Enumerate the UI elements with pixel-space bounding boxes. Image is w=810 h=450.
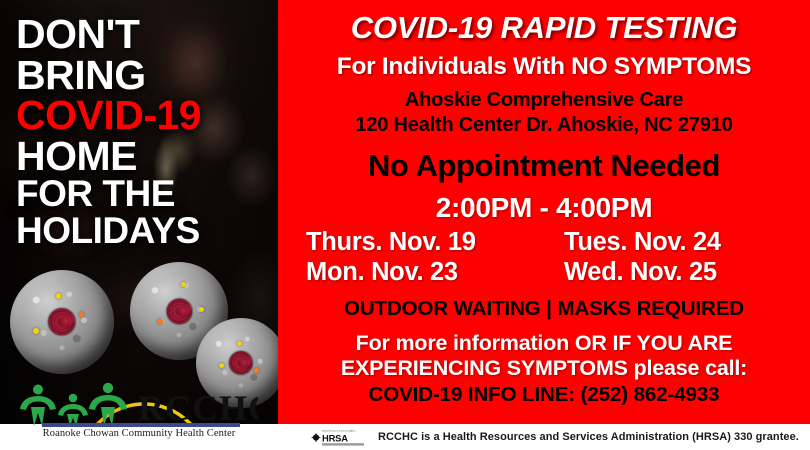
info-line-1: For more information OR IF YOU ARE bbox=[278, 331, 810, 356]
footer-bar: Health Resources & Services Admin. HRSA … bbox=[278, 424, 810, 450]
date-item: Wed. Nov. 25 bbox=[544, 258, 810, 288]
poster-title: COVID-19 RAPID TESTING bbox=[278, 10, 810, 46]
hrsa-wordmark: HRSA bbox=[322, 432, 348, 443]
three-people-icon bbox=[20, 383, 127, 426]
headline-block: DON'T BRING COVID-19 HOME FOR THE HOLIDA… bbox=[16, 14, 268, 250]
testing-hours: 2:00PM - 4:00PM bbox=[278, 192, 810, 224]
headline-line-4: HOME bbox=[16, 136, 268, 177]
headline-line-3-covid: COVID-19 bbox=[16, 95, 268, 136]
rcchc-tagline: Roanoke Chowan Community Health Center bbox=[0, 428, 278, 439]
headline-line-6: HOLIDAYS bbox=[16, 213, 268, 250]
date-item: Mon. Nov. 23 bbox=[278, 258, 544, 288]
site-address: 120 Health Center Dr. Ahoskie, NC 27910 bbox=[278, 114, 810, 137]
left-panel: DON'T BRING COVID-19 HOME FOR THE HOLIDA… bbox=[0, 0, 278, 424]
headline-line-1: DON'T bbox=[16, 14, 268, 55]
poster: DON'T BRING COVID-19 HOME FOR THE HOLIDA… bbox=[0, 0, 810, 450]
covid-info-hotline: COVID-19 INFO LINE: (252) 862-4933 bbox=[278, 383, 810, 407]
headline-line-2: BRING bbox=[16, 55, 268, 96]
headline-line-5: FOR THE bbox=[16, 176, 268, 213]
hrsa-starburst-icon bbox=[311, 432, 321, 442]
info-line-2: EXPERIENCING SYMPTOMS please call: bbox=[278, 356, 810, 381]
rcchc-logo: RCCHC bbox=[18, 382, 258, 426]
no-appointment-notice: No Appointment Needed bbox=[278, 148, 810, 184]
site-name: Ahoskie Comprehensive Care bbox=[278, 89, 810, 112]
virus-particle-icon bbox=[10, 270, 114, 374]
hrsa-logo-icon: Health Resources & Services Admin. HRSA bbox=[310, 428, 366, 447]
date-item: Tues. Nov. 24 bbox=[544, 228, 810, 258]
waiting-and-mask-rules: OUTDOOR WAITING | MASKS REQUIRED bbox=[278, 297, 810, 321]
dates-column-right: Tues. Nov. 24 Wed. Nov. 25 bbox=[544, 228, 810, 288]
poster-subtitle: For Individuals With NO SYMPTOMS bbox=[278, 53, 810, 81]
logo-blue-rule bbox=[42, 423, 240, 427]
right-panel: COVID-19 RAPID TESTING For Individuals W… bbox=[278, 0, 810, 424]
testing-dates: Thurs. Nov. 19 Mon. Nov. 23 Tues. Nov. 2… bbox=[278, 228, 810, 288]
rcchc-wordmark: RCCHC bbox=[138, 388, 258, 426]
grantee-statement: RCCHC is a Health Resources and Services… bbox=[378, 431, 799, 443]
date-item: Thurs. Nov. 19 bbox=[278, 228, 544, 258]
dates-column-left: Thurs. Nov. 19 Mon. Nov. 23 bbox=[278, 228, 544, 288]
